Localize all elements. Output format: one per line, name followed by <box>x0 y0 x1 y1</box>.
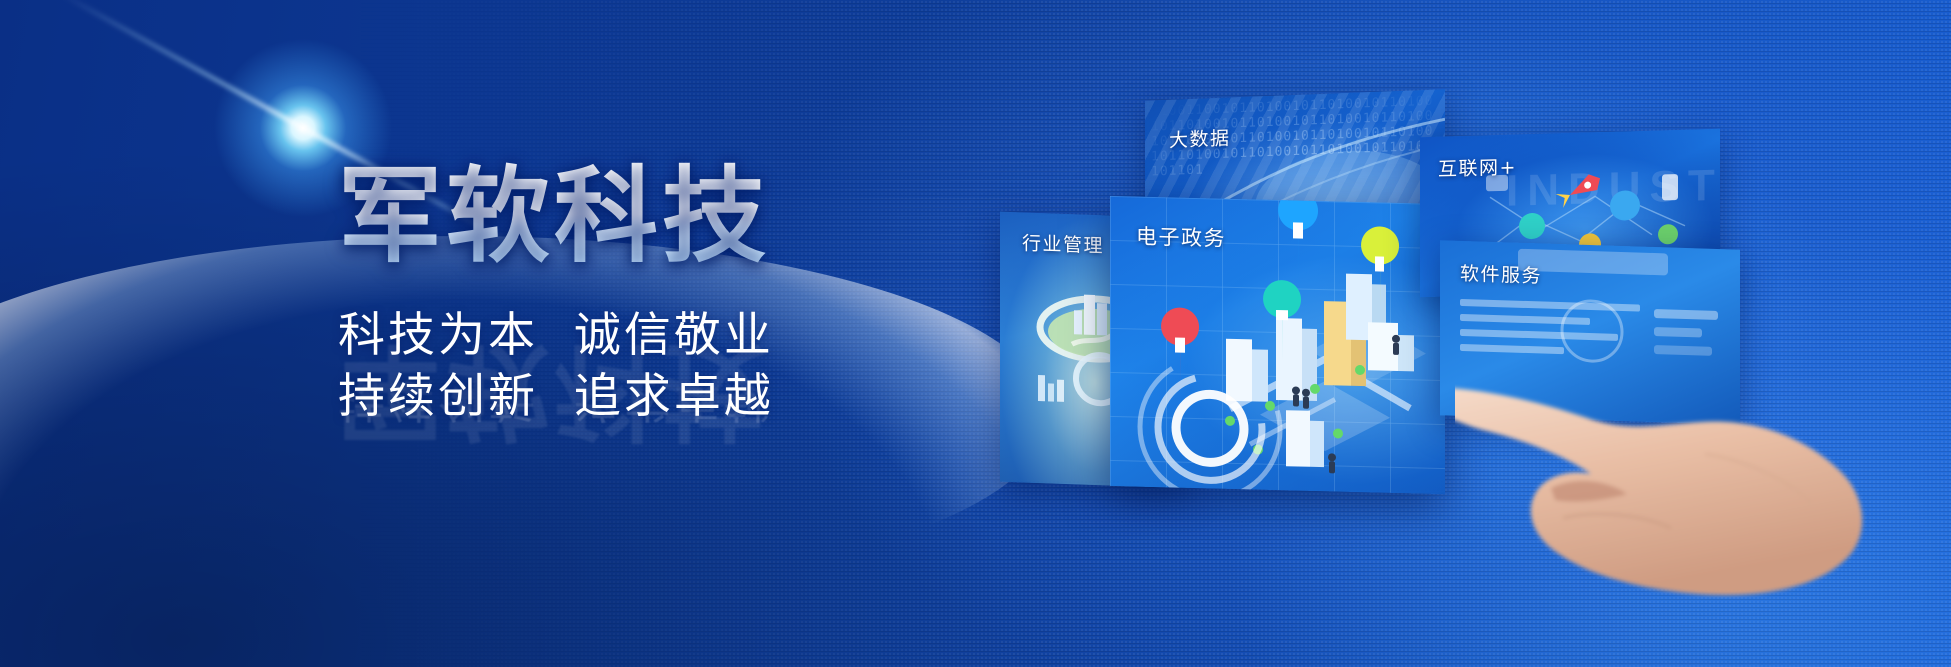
brand-text-block: 军软科技 科技为本 诚信敬业 持续创新 追求卓越 持续创新 追求卓越 <box>338 162 978 490</box>
tagline-line-1: 科技为本 诚信敬业 <box>338 305 978 366</box>
panel-bigdata-label: 大数据 <box>1169 123 1231 152</box>
hero-banner: 军软科技 科技为本 诚信敬业 持续创新 追求卓越 持续创新 追求卓越 军软科技 … <box>0 0 1951 667</box>
panel-egov-label: 电子政务 <box>1136 221 1226 253</box>
panel-internet-label: 互联网+ <box>1438 152 1517 181</box>
panel-industry-label: 行业管理 <box>1022 228 1104 258</box>
solution-panel-cluster: 0100110010110100101101001011010010110100… <box>1000 95 1760 525</box>
document-lines-icon <box>1460 299 1640 365</box>
tagline-block: 科技为本 诚信敬业 持续创新 追求卓越 持续创新 追求卓越 <box>338 305 978 490</box>
panel-software-label: 软件服务 <box>1460 259 1542 289</box>
panel-software[interactable]: 软件服务 <box>1440 240 1740 424</box>
tagline-reflection: 持续创新 追求卓越 <box>338 368 978 429</box>
brand-title: 军软科技 <box>338 162 978 271</box>
panel-egov[interactable]: 电子政务 <box>1110 196 1445 494</box>
